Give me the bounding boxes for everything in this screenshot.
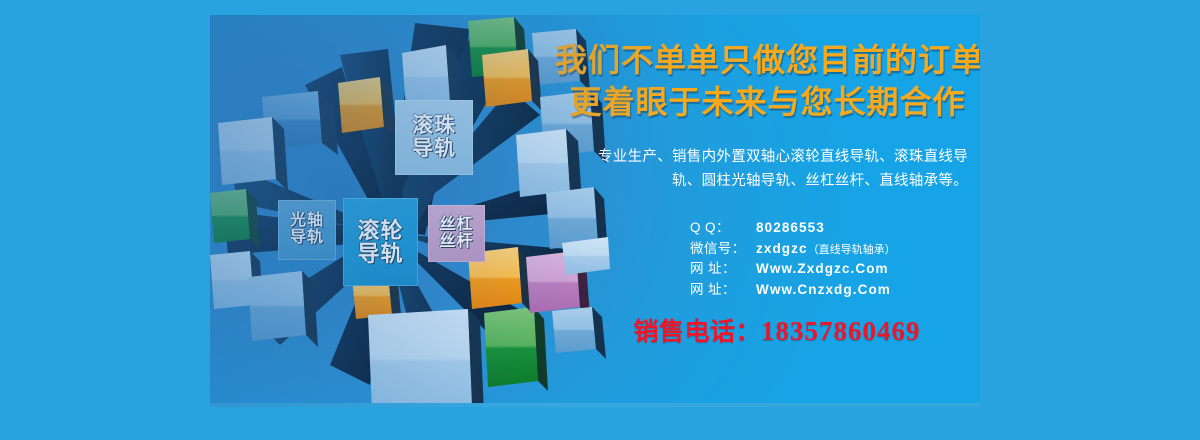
product-box-guangzhou-daogui[interactable]: 光轴 导轨 bbox=[278, 200, 336, 260]
contact-value-website-1[interactable]: Www.Zxdgzc.Com bbox=[756, 259, 889, 280]
banner-text-column: 我们不单单只做您目前的订单 更着眼于未来与您长期合作 专业生产、销售内外置双轴心… bbox=[555, 15, 980, 407]
contact-value-qq[interactable]: 80286553 bbox=[756, 218, 825, 239]
description-paragraph: 专业生产、销售内外置双轴心滚轮直线导轨、滚珠直线导轨、圆柱光轴导轨、丝杠丝杆、直… bbox=[570, 146, 968, 193]
contact-label-qq: Q Q： bbox=[690, 218, 756, 239]
headline-line-2: 更着眼于未来与您长期合作 bbox=[555, 81, 980, 123]
sales-phone-label: 销售电话： bbox=[633, 318, 761, 346]
sales-phone-number[interactable]: 18357860469 bbox=[761, 316, 921, 346]
contact-row-website-1: 网 址： Www.Zxdgzc.Com bbox=[690, 259, 980, 280]
contact-value-wechat[interactable]: zxdgzc bbox=[756, 239, 808, 260]
product-box-guangzhou-line1: 光轴 bbox=[290, 213, 324, 230]
product-box-guangzhou-line2: 导轨 bbox=[290, 230, 324, 247]
banner-panel: 滚珠 导轨 光轴 导轨 滚轮 导轨 丝杠 丝杆 我们不单单只做您目前的订单 更着… bbox=[210, 15, 980, 407]
contact-label-website-2: 网 址： bbox=[690, 280, 756, 301]
product-box-gunzhu-line1: 滚珠 bbox=[412, 115, 456, 137]
product-box-gunzhu-daogui[interactable]: 滚珠 导轨 bbox=[395, 100, 473, 175]
panel-bottom-edge bbox=[210, 403, 980, 407]
contact-value-website-2[interactable]: Www.Cnzxdg.Com bbox=[756, 280, 891, 301]
headline-line-1: 我们不单单只做您目前的订单 bbox=[555, 42, 980, 78]
product-box-gunlun-line1: 滚轮 bbox=[357, 219, 403, 242]
contact-row-qq: Q Q： 80286553 bbox=[690, 218, 980, 239]
product-box-sigang-sigan[interactable]: 丝杠 丝杆 bbox=[428, 205, 485, 262]
headline: 我们不单单只做您目前的订单 更着眼于未来与您长期合作 bbox=[555, 39, 980, 123]
product-box-gunlun-line2: 导轨 bbox=[357, 242, 403, 265]
product-box-sigang-line2: 丝杆 bbox=[439, 234, 473, 251]
contact-row-website-2: 网 址： Www.Cnzxdg.Com bbox=[690, 280, 980, 301]
product-box-sigang-line1: 丝杠 bbox=[439, 217, 473, 234]
contact-row-wechat: 微信号： zxdgzc （直线导轨轴承） bbox=[690, 239, 980, 260]
cube-burst-graphic: 滚珠 导轨 光轴 导轨 滚轮 导轨 丝杠 丝杆 bbox=[210, 15, 610, 407]
contact-label-wechat: 微信号： bbox=[690, 239, 756, 260]
sales-phone[interactable]: 销售电话：18357860469 bbox=[577, 312, 977, 348]
contact-label-website-1: 网 址： bbox=[690, 259, 756, 280]
contact-note-wechat: （直线导轨轴承） bbox=[808, 242, 896, 259]
product-box-gunlun-daogui[interactable]: 滚轮 导轨 bbox=[343, 198, 418, 286]
banner-advertisement: 滚珠 导轨 光轴 导轨 滚轮 导轨 丝杠 丝杆 我们不单单只做您目前的订单 更着… bbox=[0, 0, 1200, 440]
contact-list: Q Q： 80286553 微信号： zxdgzc （直线导轨轴承） 网 址： … bbox=[690, 218, 980, 300]
product-box-gunzhu-line2: 导轨 bbox=[412, 138, 456, 160]
